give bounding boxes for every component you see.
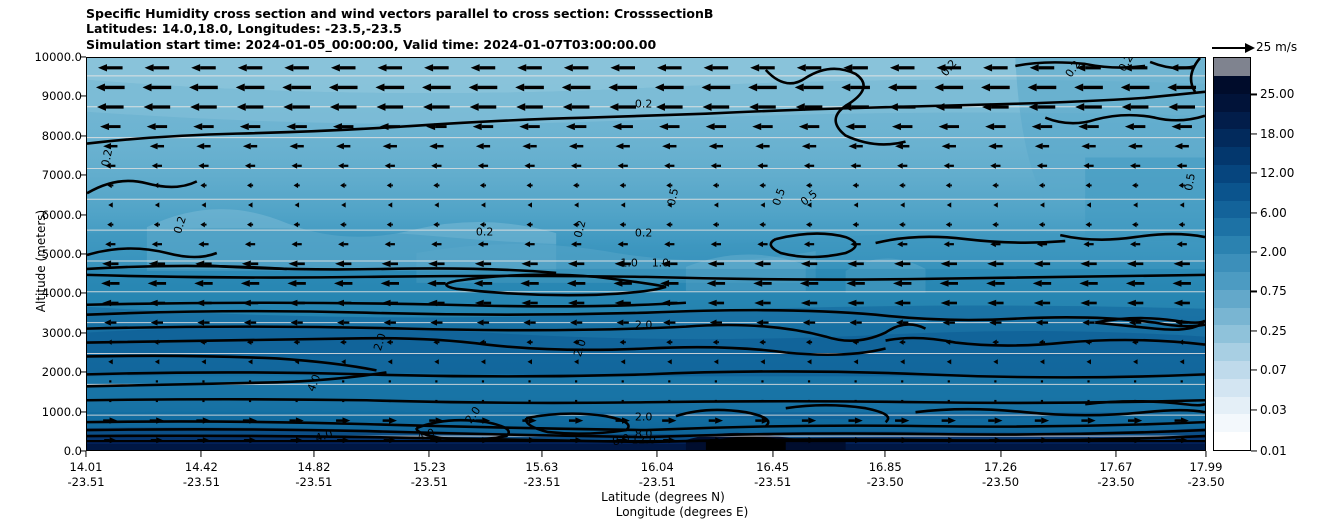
chart-title-line2: Latitudes: 14.0,18.0, Longitudes: -23.5,… [86, 21, 713, 36]
colorbar-segment [1214, 218, 1250, 236]
x-axis-tick-mark [657, 451, 658, 457]
x-axis-tick-mark [1205, 451, 1206, 457]
contour-label: 1.0 [620, 256, 638, 269]
colorbar-tick-label: 0.03 [1260, 403, 1287, 417]
x-axis-label-latitude: Latitude (degrees N) [0, 490, 1326, 504]
colorbar-tick-mark [1251, 133, 1257, 134]
colorbar-tick-label: 18.00 [1260, 127, 1294, 141]
colorbar-tick-label: 25.00 [1260, 87, 1294, 101]
x-axis-tick-label-group: 14.01-23.51 [67, 460, 104, 490]
chart-title-line1: Specific Humidity cross section and wind… [86, 6, 713, 21]
x-axis-tick-label-group: 14.42-23.51 [183, 460, 220, 490]
x-axis-tick-label-latitude: 17.67 [1097, 460, 1134, 475]
x-axis-tick-label-group: 17.99-23.50 [1187, 460, 1224, 490]
contour-label: 2.0 [635, 319, 653, 332]
chart-title-block: Specific Humidity cross section and wind… [86, 6, 713, 52]
x-axis-tick-label-longitude: -23.51 [411, 475, 448, 490]
colorbar-segment [1214, 147, 1250, 165]
x-axis-tick-label-group: 16.04-23.51 [639, 460, 676, 490]
contour-label: 0.2 [476, 226, 494, 239]
humidity-line-contours [87, 58, 1205, 450]
x-axis-tick-label-longitude: -23.51 [295, 475, 332, 490]
colorbar-segment [1214, 254, 1250, 272]
x-axis-tick-label-group: 15.23-23.51 [411, 460, 448, 490]
x-axis-tick-mark [201, 451, 202, 457]
contour-label: 0.2 [635, 98, 653, 111]
y-axis-tick-label: 8000.0 [42, 129, 82, 143]
x-axis-tick-label-group: 15.63-23.51 [523, 460, 560, 490]
contour-label: 12.0 [631, 434, 656, 447]
x-axis-label-longitude: Longitude (degrees E) [0, 505, 1326, 519]
arrow-right-icon [1211, 40, 1255, 56]
colorbar-segment [1214, 94, 1250, 112]
x-axis-tick-label-latitude: 16.04 [639, 460, 676, 475]
x-axis-tick-label-latitude: 16.45 [754, 460, 791, 475]
x-axis-tick-label-latitude: 14.42 [183, 460, 220, 475]
y-axis-tick-label: 0.0 [64, 444, 82, 458]
colorbar-tick-mark [1251, 291, 1257, 292]
colorbar-tick-label: 0.25 [1260, 324, 1287, 338]
colorbar-segment [1214, 129, 1250, 147]
x-axis-tick-label-group: 16.45-23.51 [754, 460, 791, 490]
x-axis-tick-label-latitude: 14.82 [295, 460, 332, 475]
x-axis-tick-mark [541, 451, 542, 457]
wind-vector-key [1211, 40, 1255, 56]
colorbar-segment [1214, 165, 1250, 183]
x-axis-tick-mark [85, 451, 86, 457]
x-axis-tick-label-longitude: -23.51 [754, 475, 791, 490]
colorbar-tick-mark [1251, 450, 1257, 451]
contour-label: 1.0 [652, 256, 670, 269]
contour-label: 2.0 [635, 411, 653, 424]
colorbar-segment [1214, 201, 1250, 219]
x-axis-tick-mark [1000, 451, 1001, 457]
colorbar-tick-label: 6.00 [1260, 206, 1287, 220]
x-axis-tick-label-latitude: 16.85 [867, 460, 904, 475]
x-axis-tick-label-longitude: -23.51 [523, 475, 560, 490]
colorbar-tick-mark [1251, 173, 1257, 174]
x-axis-tick-label-latitude: 17.99 [1187, 460, 1224, 475]
colorbar[interactable] [1213, 57, 1251, 451]
colorbar-tick-mark [1251, 330, 1257, 331]
plot-area[interactable]: 0.20.20.20.20.20.20.20.20.20.50.50.50.51… [86, 57, 1206, 451]
x-axis-tick-label-longitude: -23.50 [867, 475, 904, 490]
colorbar-tick-mark [1251, 212, 1257, 213]
x-axis-tick-label-latitude: 15.23 [411, 460, 448, 475]
x-axis-tick-label-group: 16.85-23.50 [867, 460, 904, 490]
colorbar-segment [1214, 379, 1250, 397]
x-axis-tick-label-longitude: -23.51 [67, 475, 104, 490]
colorbar-segment [1214, 236, 1250, 254]
colorbar-segment [1214, 183, 1250, 201]
colorbar-tick-mark [1251, 94, 1257, 95]
x-axis-tick-mark [313, 451, 314, 457]
y-axis-tick-label: 9000.0 [42, 89, 82, 103]
colorbar-tick-label: 12.00 [1260, 166, 1294, 180]
colorbar-segment [1214, 290, 1250, 308]
colorbar-segment [1214, 432, 1250, 450]
colorbar-tick-label: 0.07 [1260, 363, 1287, 377]
x-axis-tick-mark [429, 451, 430, 457]
colorbar-segment [1214, 361, 1250, 379]
wind-vector-key-label: 25 m/s [1256, 40, 1297, 54]
contour-label: 0.2 [635, 227, 653, 240]
x-axis-tick-label-group: 17.67-23.50 [1097, 460, 1134, 490]
colorbar-tick-label: 0.75 [1260, 284, 1287, 298]
x-axis-tick-label-latitude: 15.63 [523, 460, 560, 475]
x-axis-tick-mark [1115, 451, 1116, 457]
x-axis-tick-label-longitude: -23.50 [1097, 475, 1134, 490]
colorbar-tick-label: 0.01 [1260, 444, 1287, 458]
colorbar-segment [1214, 414, 1250, 432]
colorbar-segment [1214, 272, 1250, 290]
y-axis-label: Altitude (meters) [34, 151, 48, 371]
x-axis-tick-mark [772, 451, 773, 457]
x-axis-tick-label-latitude: 14.01 [67, 460, 104, 475]
colorbar-segment [1214, 112, 1250, 130]
x-axis-tick-label-group: 14.82-23.51 [295, 460, 332, 490]
colorbar-tick-mark [1251, 370, 1257, 371]
colorbar-segment [1214, 308, 1250, 326]
colorbar-segment [1214, 76, 1250, 94]
colorbar-segment [1214, 397, 1250, 415]
x-axis-tick-label-latitude: 17.26 [982, 460, 1019, 475]
x-axis-tick-label-group: 17.26-23.50 [982, 460, 1019, 490]
colorbar-tick-label: 2.00 [1260, 245, 1287, 259]
x-axis-tick-label-longitude: -23.51 [183, 475, 220, 490]
x-axis-tick-mark [885, 451, 886, 457]
colorbar-segment [1214, 343, 1250, 361]
chart-title-line3: Simulation start time: 2024-01-05_00:00:… [86, 37, 713, 52]
colorbar-segment [1214, 58, 1250, 76]
x-axis-tick-label-longitude: -23.51 [639, 475, 676, 490]
colorbar-tick-mark [1251, 409, 1257, 410]
colorbar-segment [1214, 325, 1250, 343]
x-axis-tick-label-longitude: -23.50 [982, 475, 1019, 490]
x-axis-tick-label-longitude: -23.50 [1187, 475, 1224, 490]
colorbar-tick-mark [1251, 251, 1257, 252]
y-axis-tick-label: 1000.0 [42, 405, 82, 419]
figure-canvas: Specific Humidity cross section and wind… [0, 0, 1326, 526]
y-axis-tick-label: 10000.0 [34, 50, 82, 64]
